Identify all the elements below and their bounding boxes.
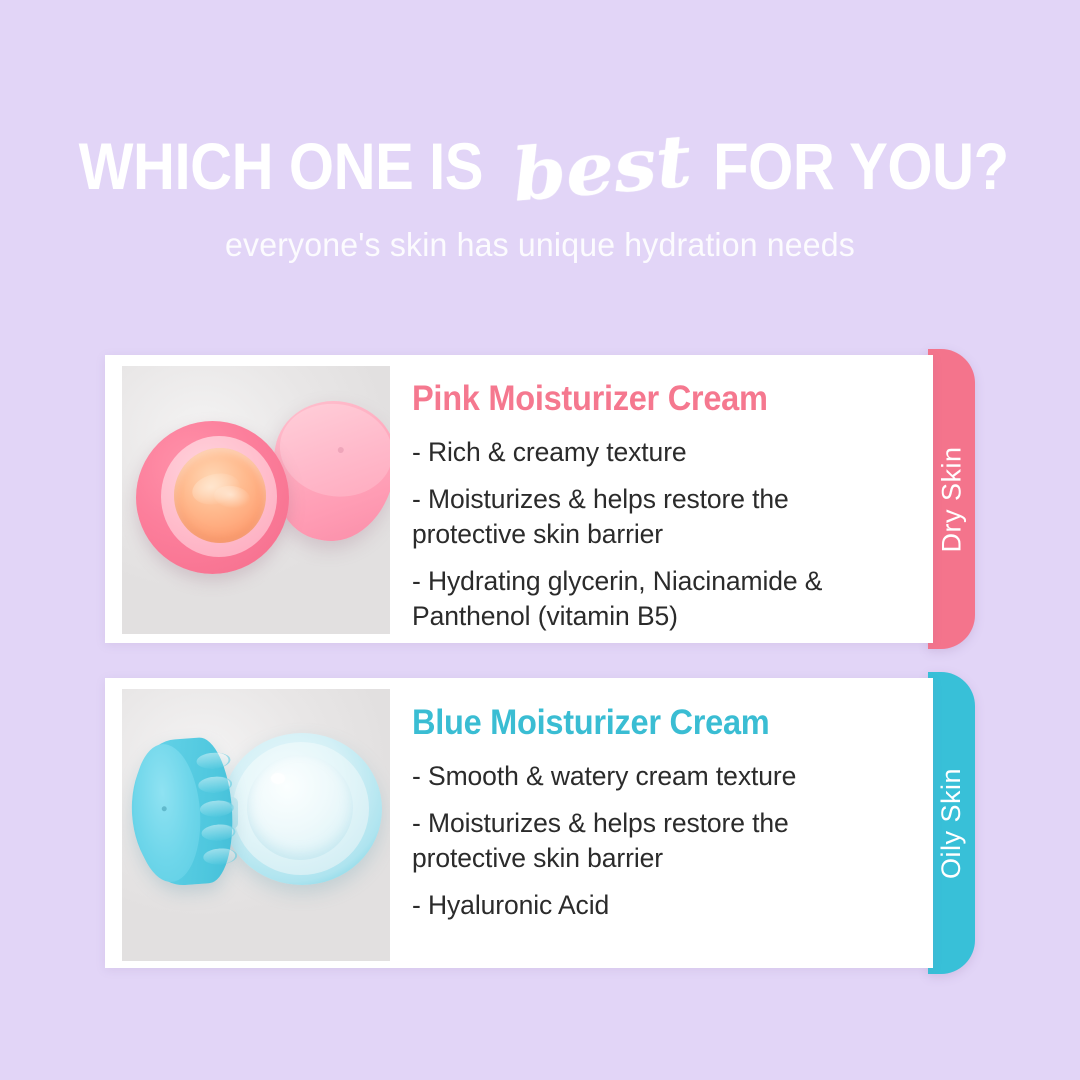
blue-gel-bubble — [271, 773, 285, 784]
page-subtitle: everyone's skin has unique hydration nee… — [16, 226, 1064, 264]
blue-jar-base — [222, 733, 382, 885]
pink-cream-surface — [174, 448, 266, 543]
skin-type-tab-oily: Oily Skin — [928, 672, 975, 974]
page-headline: WHICH ONE IS best FOR YOU? — [0, 128, 1080, 200]
skin-type-tab-label: Dry Skin — [936, 446, 967, 552]
feature-bullet: - Hydrating glycerin, Niacinamide & Pant… — [412, 564, 905, 633]
product-photo-pink — [122, 366, 390, 634]
feature-bullet: - Rich & creamy texture — [412, 435, 905, 469]
skin-type-tab-label: Oily Skin — [936, 767, 967, 878]
blue-jar-rim — [233, 742, 369, 875]
headline-before: WHICH ONE IS — [79, 133, 484, 199]
feature-bullet: - Smooth & watery cream texture — [412, 759, 905, 793]
pink-jar-rim — [161, 436, 277, 557]
header: WHICH ONE IS best FOR YOU? everyone's sk… — [0, 128, 1080, 264]
card-panel: Blue Moisturizer Cream - Smooth & watery… — [105, 678, 933, 968]
product-card-pink[interactable]: Dry Skin Pink Moisturizer Cream - Rich &… — [105, 355, 975, 643]
pink-cream-highlight-secondary — [213, 484, 252, 511]
blue-lid-ridge — [198, 775, 233, 793]
product-photo-blue — [122, 689, 390, 961]
headline-after: FOR YOU? — [713, 133, 1009, 199]
blue-gel-surface — [247, 755, 353, 860]
card-body-pink: Pink Moisturizer Cream - Rich & creamy t… — [390, 355, 933, 633]
skin-type-tab-dry: Dry Skin — [928, 349, 975, 649]
card-panel: Pink Moisturizer Cream - Rich & creamy t… — [105, 355, 933, 643]
blue-lid-ridge — [201, 823, 236, 841]
pink-jar-base — [136, 421, 289, 574]
blue-lid-ridge — [199, 799, 234, 817]
product-title-pink: Pink Moisturizer Cream — [412, 379, 870, 419]
product-card-blue[interactable]: Oily Skin Bl — [105, 678, 975, 968]
feature-bullet: - Hyaluronic Acid — [412, 888, 905, 922]
card-body-blue: Blue Moisturizer Cream - Smooth & watery… — [390, 678, 933, 923]
feature-bullet: - Moisturizes & helps restore the protec… — [412, 482, 905, 551]
headline-script-word: best — [504, 124, 701, 212]
product-title-blue: Blue Moisturizer Cream — [412, 703, 870, 743]
feature-bullet: - Moisturizes & helps restore the protec… — [412, 806, 905, 875]
